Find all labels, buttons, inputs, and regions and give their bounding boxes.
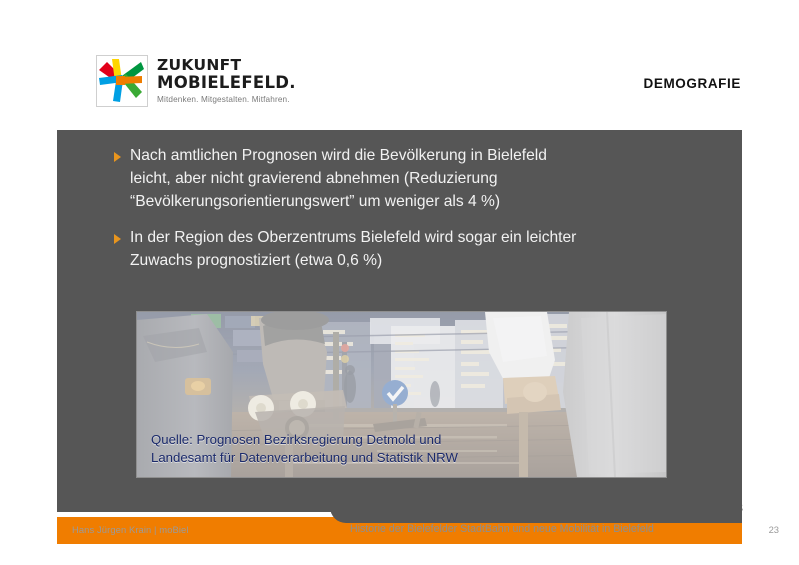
starburst-logo-icon: [96, 55, 148, 107]
slide-header: ZUKUNFT MOBIELEFELD. Mitdenken. Mitgesta…: [0, 0, 799, 128]
photo-caption: Quelle: Prognosen Bezirksregierung Detmo…: [151, 431, 458, 468]
source-photo: Quelle: Prognosen Bezirksregierung Detmo…: [136, 311, 667, 478]
footer-gray-tab: [330, 494, 742, 523]
list-item: In der Region des Oberzentrums Bielefeld…: [114, 227, 724, 273]
content-panel: Nach amtlichen Prognosen wird die Bevölk…: [57, 130, 742, 512]
bullet-text: Nach amtlichen Prognosen wird die Bevölk…: [130, 145, 547, 214]
footer-page-number: 23: [769, 524, 779, 535]
list-item: Nach amtlichen Prognosen wird die Bevölk…: [114, 145, 724, 214]
logo-tagline: Mitdenken. Mitgestalten. Mitfahren.: [157, 95, 296, 104]
triangle-right-icon: [114, 227, 130, 244]
logo-line-1: ZUKUNFT: [157, 58, 296, 74]
logo-line-2: MOBIELEFELD.: [157, 75, 296, 92]
brand-logo: ZUKUNFT MOBIELEFELD. Mitdenken. Mitgesta…: [96, 55, 296, 107]
footer-author: Hans Jürgen Krain | moBiel: [72, 524, 189, 535]
bullet-list: Nach amtlichen Prognosen wird die Bevölk…: [114, 145, 724, 286]
slide-canvas: ZUKUNFT MOBIELEFELD. Mitdenken. Mitgesta…: [0, 0, 799, 565]
page-title: DEMOGRAFIE: [643, 76, 741, 91]
footer-presentation-title: Historie der Bielefelder StadtBahn und n…: [350, 523, 654, 535]
bullet-text: In der Region des Oberzentrums Bielefeld…: [130, 227, 576, 273]
brand-wordmark: ZUKUNFT MOBIELEFELD. Mitdenken. Mitgesta…: [157, 55, 296, 104]
triangle-right-icon: [114, 145, 130, 162]
